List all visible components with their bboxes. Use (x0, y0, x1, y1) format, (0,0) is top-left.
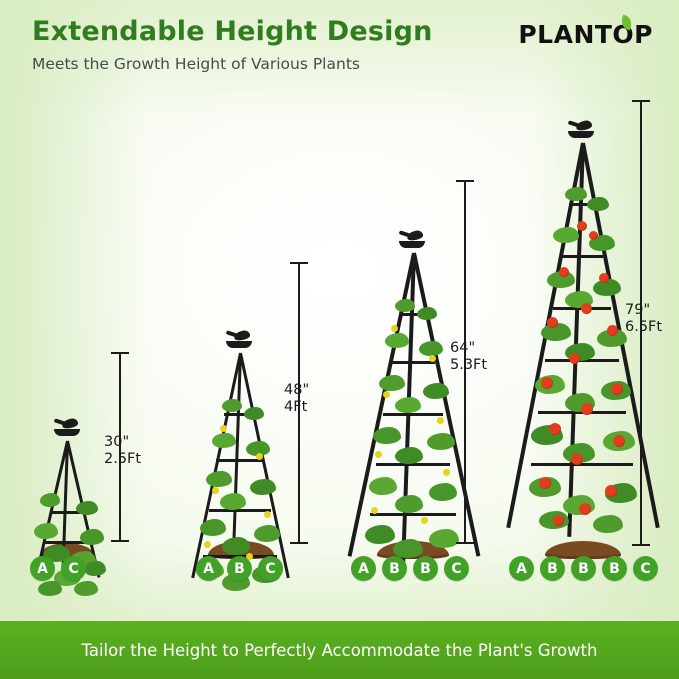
badge-c[interactable]: C (258, 556, 283, 581)
foliage (80, 529, 104, 545)
dimension-inches-3: 64" (450, 340, 487, 357)
foliage (395, 495, 423, 513)
product-infographic: Extendable Height Design Meets the Growt… (0, 0, 679, 679)
foliage (427, 433, 455, 450)
footer-banner: Tailor the Height to Perfectly Accommoda… (0, 621, 679, 679)
dimension-label-2: 48" 4Ft (284, 382, 309, 415)
foliage (220, 493, 246, 510)
badge-c[interactable]: C (61, 556, 86, 581)
flower (391, 325, 398, 332)
flower (437, 417, 444, 424)
tomato (607, 325, 618, 336)
dimension-label-4: 79" 6.5Ft (625, 302, 662, 335)
foliage (593, 515, 623, 533)
tomato (559, 267, 569, 277)
dimension-feet-4: 6.5Ft (625, 319, 662, 336)
flower (383, 391, 390, 398)
foliage (74, 581, 98, 596)
flower (443, 469, 450, 476)
tomato (579, 503, 591, 515)
page-subtitle: Meets the Growth Height of Various Plant… (32, 55, 360, 73)
foliage (429, 483, 457, 501)
foliage (395, 447, 423, 464)
foliage (373, 427, 401, 444)
tomato (571, 453, 583, 465)
foliage (423, 383, 449, 399)
tomato (539, 477, 551, 489)
foliage (222, 399, 242, 412)
trellis-rung (370, 513, 456, 516)
dimension-feet-3: 5.3Ft (450, 357, 487, 374)
dimension-inches-1: 30" (104, 434, 141, 451)
badge-a[interactable]: A (351, 556, 376, 581)
dimension-inches-2: 48" (284, 382, 309, 399)
badge-b[interactable]: B (540, 556, 565, 581)
tomato (581, 403, 593, 415)
trellis-rung (391, 361, 435, 364)
foliage (38, 581, 62, 596)
config-1-badges: A C (30, 556, 86, 581)
flower (421, 517, 428, 524)
badge-b[interactable]: B (227, 556, 252, 581)
tomato (611, 383, 623, 395)
foliage (244, 407, 264, 420)
badge-b[interactable]: B (413, 556, 438, 581)
bird-finial-icon (54, 419, 82, 439)
foliage (222, 537, 250, 555)
foliage (34, 523, 58, 539)
foliage (206, 471, 232, 487)
foliage (40, 493, 60, 507)
foliage (76, 501, 98, 515)
config-3-badges: A B B C (351, 556, 469, 581)
foliage (250, 479, 276, 495)
flower (429, 355, 436, 362)
flower (220, 425, 227, 432)
brand-name: PLANTOP (518, 20, 653, 49)
bird-finial-icon (226, 331, 254, 351)
dimension-label-1: 30" 2.5Ft (104, 434, 141, 467)
badge-b[interactable]: B (571, 556, 596, 581)
bird-finial-icon (399, 231, 427, 251)
foliage (395, 299, 415, 312)
bird-finial-icon (568, 121, 596, 141)
flower (204, 541, 211, 548)
foliage (395, 397, 421, 413)
tomato (547, 317, 558, 328)
tomato (605, 485, 617, 497)
page-title: Extendable Height Design (32, 16, 433, 47)
flower (264, 511, 271, 518)
config-4-badges: A B B B C (509, 556, 658, 581)
tomato (581, 303, 592, 314)
foliage (419, 341, 443, 356)
badge-c[interactable]: C (444, 556, 469, 581)
trellis-rung (383, 413, 443, 416)
config-1-group (14, 141, 164, 621)
badge-a[interactable]: A (30, 556, 55, 581)
trellis-rung (531, 463, 633, 466)
foliage (379, 375, 405, 391)
config-2-badges: A B C (196, 556, 283, 581)
badge-c[interactable]: C (633, 556, 658, 581)
badge-a[interactable]: A (509, 556, 534, 581)
trellis-rung (209, 509, 271, 512)
badge-b[interactable]: B (382, 556, 407, 581)
tomato (577, 221, 587, 231)
foliage (385, 333, 409, 348)
footer-text: Tailor the Height to Perfectly Accommoda… (82, 641, 598, 660)
trellis-rung (561, 255, 603, 258)
foliage (212, 433, 236, 448)
flower (256, 453, 263, 460)
dimension-feet-2: 4Ft (284, 399, 309, 416)
dimension-feet-1: 2.5Ft (104, 451, 141, 468)
foliage (369, 477, 397, 495)
tomato (553, 515, 564, 526)
tomato (599, 273, 609, 283)
badge-b[interactable]: B (602, 556, 627, 581)
tomato (589, 231, 598, 240)
foliage (84, 561, 106, 576)
config-4-group (495, 91, 679, 621)
foliage (565, 187, 587, 201)
flower (375, 451, 382, 458)
tomato (569, 353, 580, 364)
flower (212, 487, 219, 494)
foliage (553, 227, 579, 243)
flower (371, 507, 378, 514)
tomato (549, 423, 561, 435)
foliage (254, 525, 280, 542)
tomato (613, 435, 625, 447)
foliage (200, 519, 226, 536)
foliage (417, 307, 437, 320)
tomato (541, 377, 553, 389)
brand-logo: PLANTOP (518, 20, 653, 49)
dimension-inches-4: 79" (625, 302, 662, 319)
dimension-label-3: 64" 5.3Ft (450, 340, 487, 373)
badge-a[interactable]: A (196, 556, 221, 581)
foliage (365, 525, 395, 544)
foliage (587, 197, 609, 211)
